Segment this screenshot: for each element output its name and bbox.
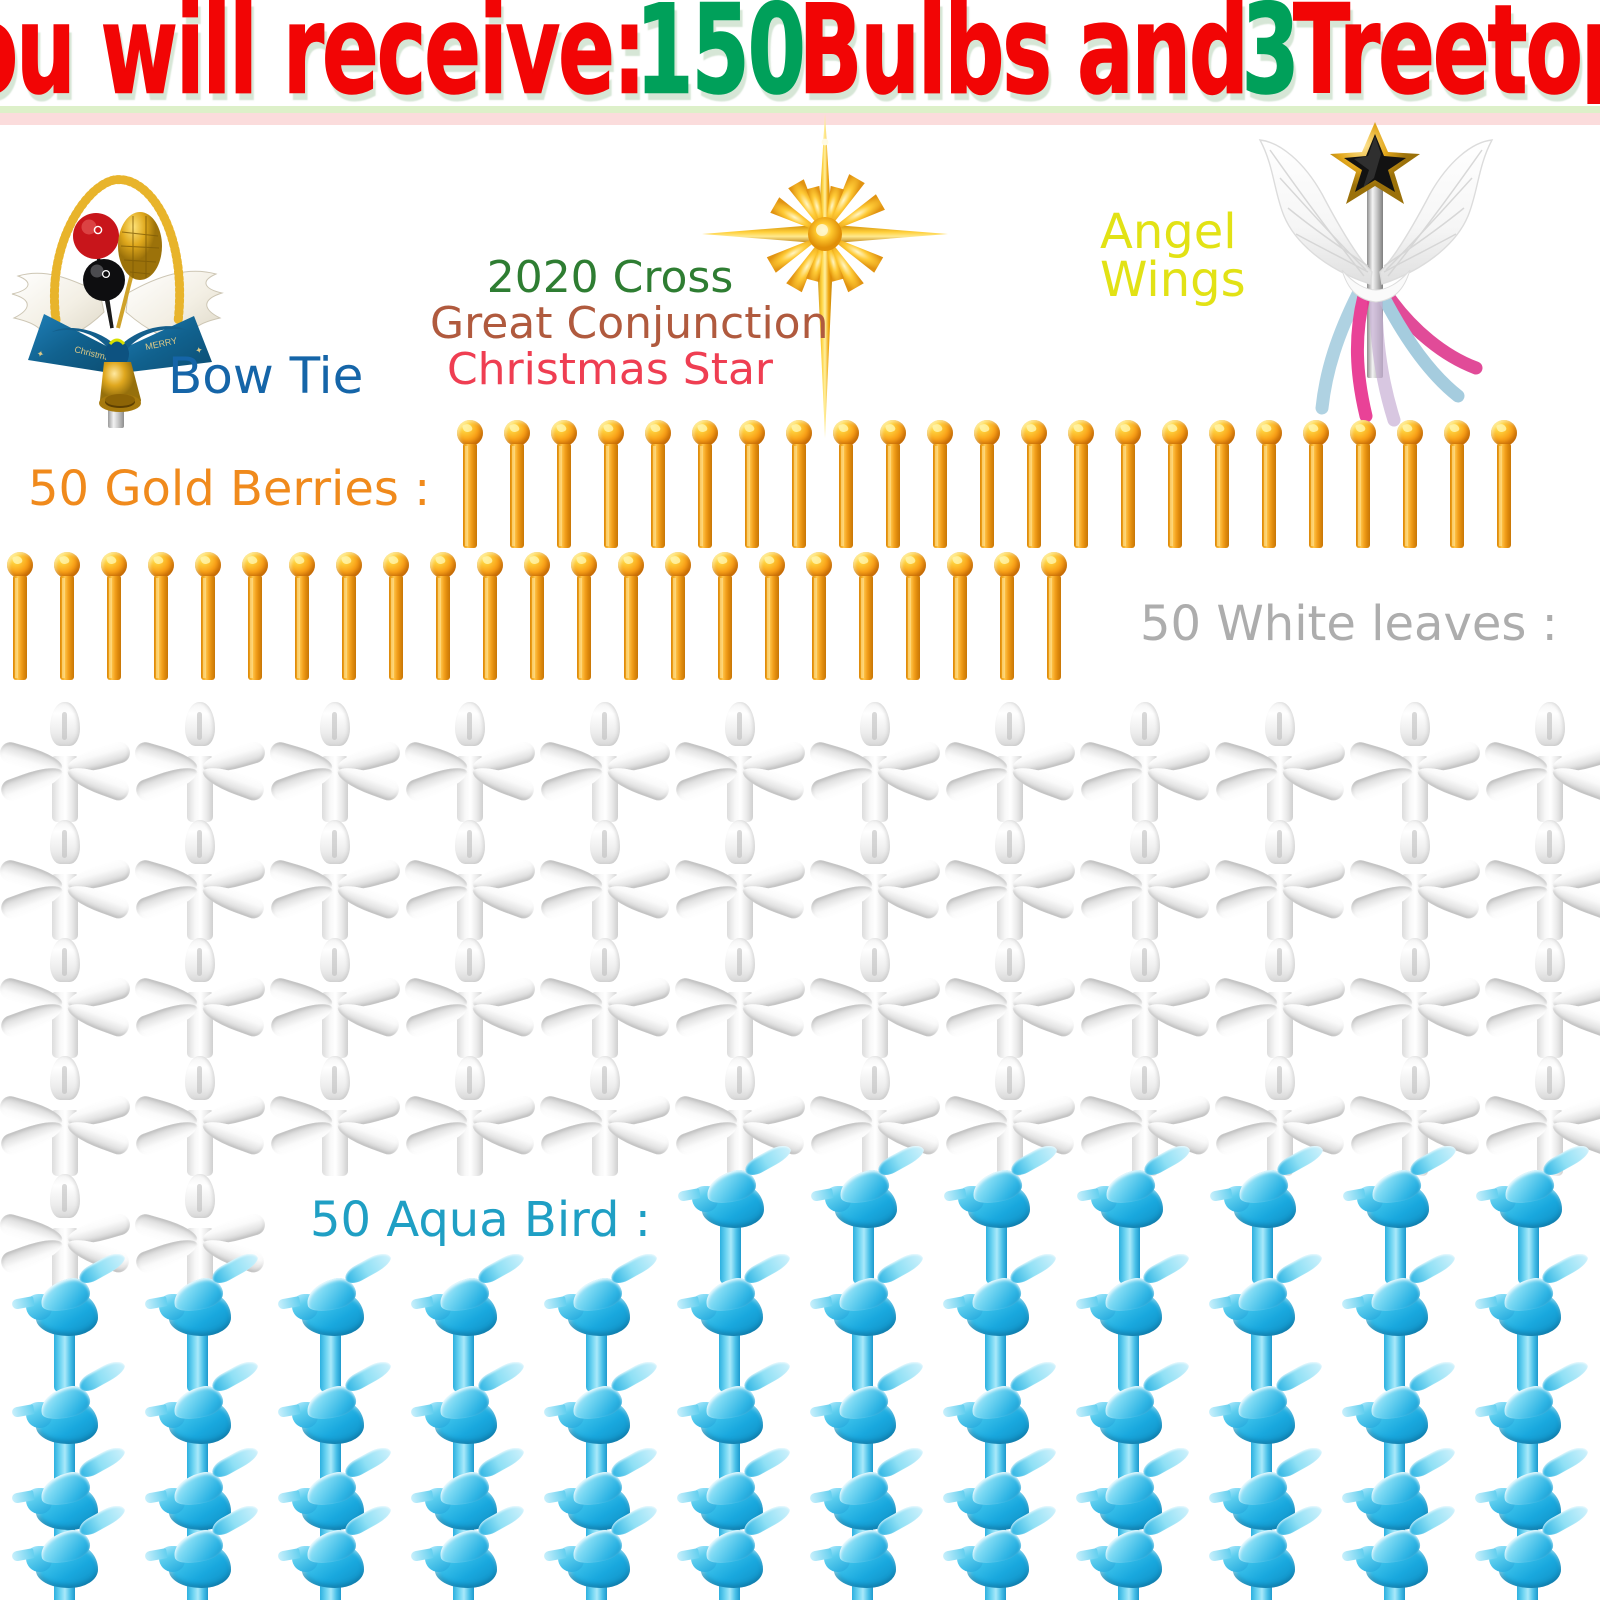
leaf-bud — [1535, 1056, 1565, 1100]
leaf-bud — [590, 1056, 620, 1100]
gold-berry — [549, 420, 579, 550]
gold-berry — [428, 552, 458, 682]
aqua-bird — [671, 1520, 797, 1600]
berry-ball — [880, 420, 906, 446]
berry-stem — [1403, 444, 1417, 548]
berry-ball — [457, 420, 483, 446]
berry-ball — [1491, 420, 1517, 446]
berry-stem — [812, 576, 826, 680]
product-listing-image: You will receive: 150 Bulbs and 3 Treeto… — [0, 0, 1600, 1600]
leaf-bud — [50, 1056, 80, 1100]
berry-stem — [577, 576, 591, 680]
white-leaf — [276, 936, 394, 1062]
white-leaf — [681, 818, 799, 944]
berry-ball — [101, 552, 127, 578]
berry-stem — [483, 576, 497, 680]
berry-ball — [665, 552, 691, 578]
berry-stem — [980, 444, 994, 548]
berry-stem — [933, 444, 947, 548]
label-angel-wings-line-2: Wings — [1100, 256, 1246, 304]
leaf-bud — [1535, 820, 1565, 864]
white-leaf — [6, 818, 124, 944]
berry-stem — [60, 576, 74, 680]
white-leaf — [411, 818, 529, 944]
white-leaf — [1356, 936, 1474, 1062]
berry-stem — [624, 576, 638, 680]
white-leaf — [1086, 700, 1204, 826]
aqua-bird — [804, 1520, 930, 1600]
berry-ball — [195, 552, 221, 578]
berry-ball — [947, 552, 973, 578]
white-leaf — [816, 936, 934, 1062]
label-bow-tie: Bow Tie — [168, 350, 363, 402]
berry-stem — [154, 576, 168, 680]
gold-berry — [663, 552, 693, 682]
leaf-bud — [1400, 702, 1430, 746]
label-star-line-2: Great Conjunction — [430, 301, 790, 347]
gold-berry — [898, 552, 928, 682]
berry-ball — [1444, 420, 1470, 446]
berry-stem — [1074, 444, 1088, 548]
gold-berry — [334, 552, 364, 682]
label-christmas-star: 2020 Cross Great Conjunction Christmas S… — [430, 255, 790, 392]
gold-berry — [643, 420, 673, 550]
berry-stem — [1121, 444, 1135, 548]
leaf-bud — [455, 1056, 485, 1100]
berry-stem — [1000, 576, 1014, 680]
leaf-bud — [320, 1056, 350, 1100]
berry-stem — [248, 576, 262, 680]
aqua-bird — [272, 1520, 398, 1600]
gold-berry — [1442, 420, 1472, 550]
berry-ball — [430, 552, 456, 578]
berry-ball — [1209, 420, 1235, 446]
leaf-bud — [1400, 1056, 1430, 1100]
gold-berry — [757, 552, 787, 682]
leaf-bud — [185, 1056, 215, 1100]
berry-ball — [148, 552, 174, 578]
label-star-line-3: Christmas Star — [430, 347, 790, 393]
leaf-bud — [995, 1056, 1025, 1100]
berry-stem — [1262, 444, 1276, 548]
leaf-bud — [320, 702, 350, 746]
white-leaf — [1491, 936, 1600, 1062]
leaf-bud — [590, 702, 620, 746]
berry-stem — [295, 576, 309, 680]
leaf-bud — [725, 702, 755, 746]
gold-berry — [831, 420, 861, 550]
berry-ball — [336, 552, 362, 578]
white-leaf — [951, 936, 1069, 1062]
leaf-bud — [50, 938, 80, 982]
white-leaf — [546, 700, 664, 826]
gold-berry — [1019, 420, 1049, 550]
white-leaf — [141, 936, 259, 1062]
gold-berry — [381, 552, 411, 682]
title-part-1: You will receive: — [0, 0, 645, 104]
gold-berry — [945, 552, 975, 682]
white-leaf — [1086, 936, 1204, 1062]
white-leaf — [6, 936, 124, 1062]
page-title: You will receive: 150 Bulbs and 3 Treeto… — [0, 0, 1600, 104]
berry-stem — [718, 576, 732, 680]
berry-stem — [107, 576, 121, 680]
berry-ball — [1303, 420, 1329, 446]
white-leaf — [951, 700, 1069, 826]
gold-berry — [1160, 420, 1190, 550]
white-leaf — [1356, 700, 1474, 826]
leaf-bud — [455, 702, 485, 746]
berry-stem — [906, 576, 920, 680]
gold-berry — [784, 420, 814, 550]
leaf-bud — [860, 938, 890, 982]
leaf-bud — [725, 820, 755, 864]
leaf-bud — [1130, 1056, 1160, 1100]
gold-berry — [1066, 420, 1096, 550]
white-leaf — [411, 700, 529, 826]
berry-ball — [1021, 420, 1047, 446]
gold-berry — [596, 420, 626, 550]
leaf-bud — [320, 820, 350, 864]
berry-ball — [289, 552, 315, 578]
berry-stem — [765, 576, 779, 680]
gold-berry — [616, 552, 646, 682]
leaf-bud — [1130, 820, 1160, 864]
berry-ball — [1350, 420, 1376, 446]
berry-stem — [530, 576, 544, 680]
berry-ball — [806, 552, 832, 578]
berry-stem — [671, 576, 685, 680]
berry-stem — [13, 576, 27, 680]
gold-berry — [972, 420, 1002, 550]
berry-ball — [7, 552, 33, 578]
berry-stem — [1309, 444, 1323, 548]
aqua-bird — [405, 1520, 531, 1600]
gold-berry — [455, 420, 485, 550]
white-leaf — [141, 818, 259, 944]
leaf-bud — [725, 938, 755, 982]
gold-berry — [1113, 420, 1143, 550]
berry-stem — [651, 444, 665, 548]
white-leaf — [1221, 936, 1339, 1062]
leaf-bud — [1535, 702, 1565, 746]
leaf-bud — [995, 938, 1025, 982]
white-leaf — [546, 936, 664, 1062]
berry-ball — [551, 420, 577, 446]
berry-ball — [477, 552, 503, 578]
title-bulb-count: 150 — [636, 0, 804, 104]
berry-ball — [524, 552, 550, 578]
gold-berry — [1039, 552, 1069, 682]
white-leaf — [276, 818, 394, 944]
berry-ball — [1115, 420, 1141, 446]
berry-ball — [383, 552, 409, 578]
leaf-bud — [455, 938, 485, 982]
leaf-bud — [185, 938, 215, 982]
berry-stem — [1168, 444, 1182, 548]
white-leaf — [951, 818, 1069, 944]
leaf-bud — [50, 1174, 80, 1218]
berry-ball — [645, 420, 671, 446]
title-part-2: Bulbs and — [798, 0, 1246, 104]
white-leaf — [276, 1054, 394, 1180]
berry-ball — [598, 420, 624, 446]
leaf-bud — [725, 1056, 755, 1100]
aqua-bird — [538, 1520, 664, 1600]
berry-stem — [839, 444, 853, 548]
berry-stem — [342, 576, 356, 680]
berry-ball — [1256, 420, 1282, 446]
label-gold-berries: 50 Gold Berries : — [28, 465, 430, 515]
berry-ball — [739, 420, 765, 446]
gold-berry — [522, 552, 552, 682]
leaf-bud — [590, 820, 620, 864]
berry-ball — [994, 552, 1020, 578]
berry-stem — [886, 444, 900, 548]
white-leaf — [411, 936, 529, 1062]
berry-ball — [712, 552, 738, 578]
leaf-bud — [1265, 1056, 1295, 1100]
gold-berry — [287, 552, 317, 682]
bird-tail — [475, 1249, 526, 1287]
berry-stem — [1027, 444, 1041, 548]
gold-berry — [193, 552, 223, 682]
leaf-bud — [1130, 702, 1160, 746]
white-leaf — [411, 1054, 529, 1180]
gold-berry — [99, 552, 129, 682]
white-leaf — [1221, 818, 1339, 944]
leaf-bud — [1265, 938, 1295, 982]
white-leaf — [816, 818, 934, 944]
berry-stem — [859, 576, 873, 680]
white-leaf — [141, 1054, 259, 1180]
berry-stem — [510, 444, 524, 548]
label-angel-wings: Angel Wings — [1100, 208, 1246, 304]
white-leaf — [6, 700, 124, 826]
berry-ball — [927, 420, 953, 446]
gold-berry — [1489, 420, 1519, 550]
white-leaf — [1221, 700, 1339, 826]
berry-stem — [1047, 576, 1061, 680]
aqua-bird — [6, 1520, 132, 1600]
title-part-3: Treetops — [1293, 0, 1600, 104]
berry-stem — [792, 444, 806, 548]
berry-stem — [1497, 444, 1511, 548]
berry-ball — [1068, 420, 1094, 446]
label-white-leaves: 50 White leaves : — [1140, 600, 1558, 650]
leaf-bud — [995, 820, 1025, 864]
berry-ball — [853, 552, 879, 578]
berry-stem — [201, 576, 215, 680]
gold-berry — [5, 552, 35, 682]
gold-berry — [502, 420, 532, 550]
white-leaf — [681, 936, 799, 1062]
gold-berry — [146, 552, 176, 682]
berry-stem — [1215, 444, 1229, 548]
leaf-bud — [185, 702, 215, 746]
gold-berry — [737, 420, 767, 550]
leaf-bud — [860, 1056, 890, 1100]
title-treetop-count: 3 — [1241, 0, 1297, 104]
berry-ball — [833, 420, 859, 446]
aqua-bird — [1336, 1520, 1462, 1600]
gold-berry — [475, 552, 505, 682]
leaf-bud — [1400, 938, 1430, 982]
leaf-bud — [590, 938, 620, 982]
berry-ball — [1162, 420, 1188, 446]
berry-stem — [1450, 444, 1464, 548]
gold-berry — [804, 552, 834, 682]
gold-berry — [851, 552, 881, 682]
leaf-bud — [320, 938, 350, 982]
berry-stem — [463, 444, 477, 548]
leaf-bud — [185, 820, 215, 864]
berry-stem — [389, 576, 403, 680]
berry-ball — [54, 552, 80, 578]
leaf-bud — [860, 820, 890, 864]
berry-ball — [504, 420, 530, 446]
berry-stem — [745, 444, 759, 548]
leaf-bud — [50, 820, 80, 864]
berry-ball — [1041, 552, 1067, 578]
berry-ball — [974, 420, 1000, 446]
leaf-bud — [1265, 820, 1295, 864]
leaf-bud — [860, 702, 890, 746]
white-leaf — [1491, 700, 1600, 826]
gold-berry — [240, 552, 270, 682]
ribbon-streamers — [1322, 294, 1476, 420]
white-leaf — [6, 1054, 124, 1180]
berry-stem — [953, 576, 967, 680]
berry-stem — [1356, 444, 1370, 548]
white-leaf — [141, 700, 259, 826]
aqua-bird — [1070, 1520, 1196, 1600]
leaf-bud — [50, 702, 80, 746]
white-leaf — [546, 1054, 664, 1180]
label-star-line-1: 2020 Cross — [430, 255, 790, 301]
berry-ball — [618, 552, 644, 578]
white-leaf — [276, 700, 394, 826]
berry-stem — [604, 444, 618, 548]
white-leaf — [816, 700, 934, 826]
label-aqua-bird: 50 Aqua Bird : — [310, 1196, 651, 1246]
aqua-bird — [937, 1520, 1063, 1600]
leaf-bud — [185, 1174, 215, 1218]
gold-berry — [925, 420, 955, 550]
white-leaf — [1086, 818, 1204, 944]
gold-berry — [992, 552, 1022, 682]
berry-ball — [786, 420, 812, 446]
gold-berry — [569, 552, 599, 682]
berry-ball — [692, 420, 718, 446]
white-leaf — [1491, 818, 1600, 944]
berry-ball — [900, 552, 926, 578]
aqua-bird — [1469, 1520, 1595, 1600]
aqua-bird — [139, 1520, 265, 1600]
gold-berry — [1207, 420, 1237, 550]
gold-berry — [1254, 420, 1284, 550]
berry-ball — [1397, 420, 1423, 446]
gold-berry — [1348, 420, 1378, 550]
aqua-bird — [1203, 1520, 1329, 1600]
label-angel-wings-line-1: Angel — [1100, 208, 1246, 256]
leaf-bud — [1130, 938, 1160, 982]
berry-stem — [557, 444, 571, 548]
bird-tail — [608, 1249, 659, 1287]
leaf-bud — [1265, 702, 1295, 746]
leaf-bud — [1400, 820, 1430, 864]
gold-berry — [710, 552, 740, 682]
white-leaf — [1356, 818, 1474, 944]
berry-ball — [571, 552, 597, 578]
berry-stem — [698, 444, 712, 548]
leaf-bud — [1535, 938, 1565, 982]
berry-ball — [242, 552, 268, 578]
gold-berry — [1395, 420, 1425, 550]
leaf-bud — [455, 820, 485, 864]
white-leaf — [681, 700, 799, 826]
gold-berry — [690, 420, 720, 550]
leaf-bud — [995, 702, 1025, 746]
angel-wings-ornament — [1230, 120, 1520, 440]
berry-stem — [436, 576, 450, 680]
bird-tail — [342, 1249, 393, 1287]
berry-ball — [759, 552, 785, 578]
gold-berry — [52, 552, 82, 682]
white-leaf — [546, 818, 664, 944]
gold-berry — [878, 420, 908, 550]
gold-berry — [1301, 420, 1331, 550]
